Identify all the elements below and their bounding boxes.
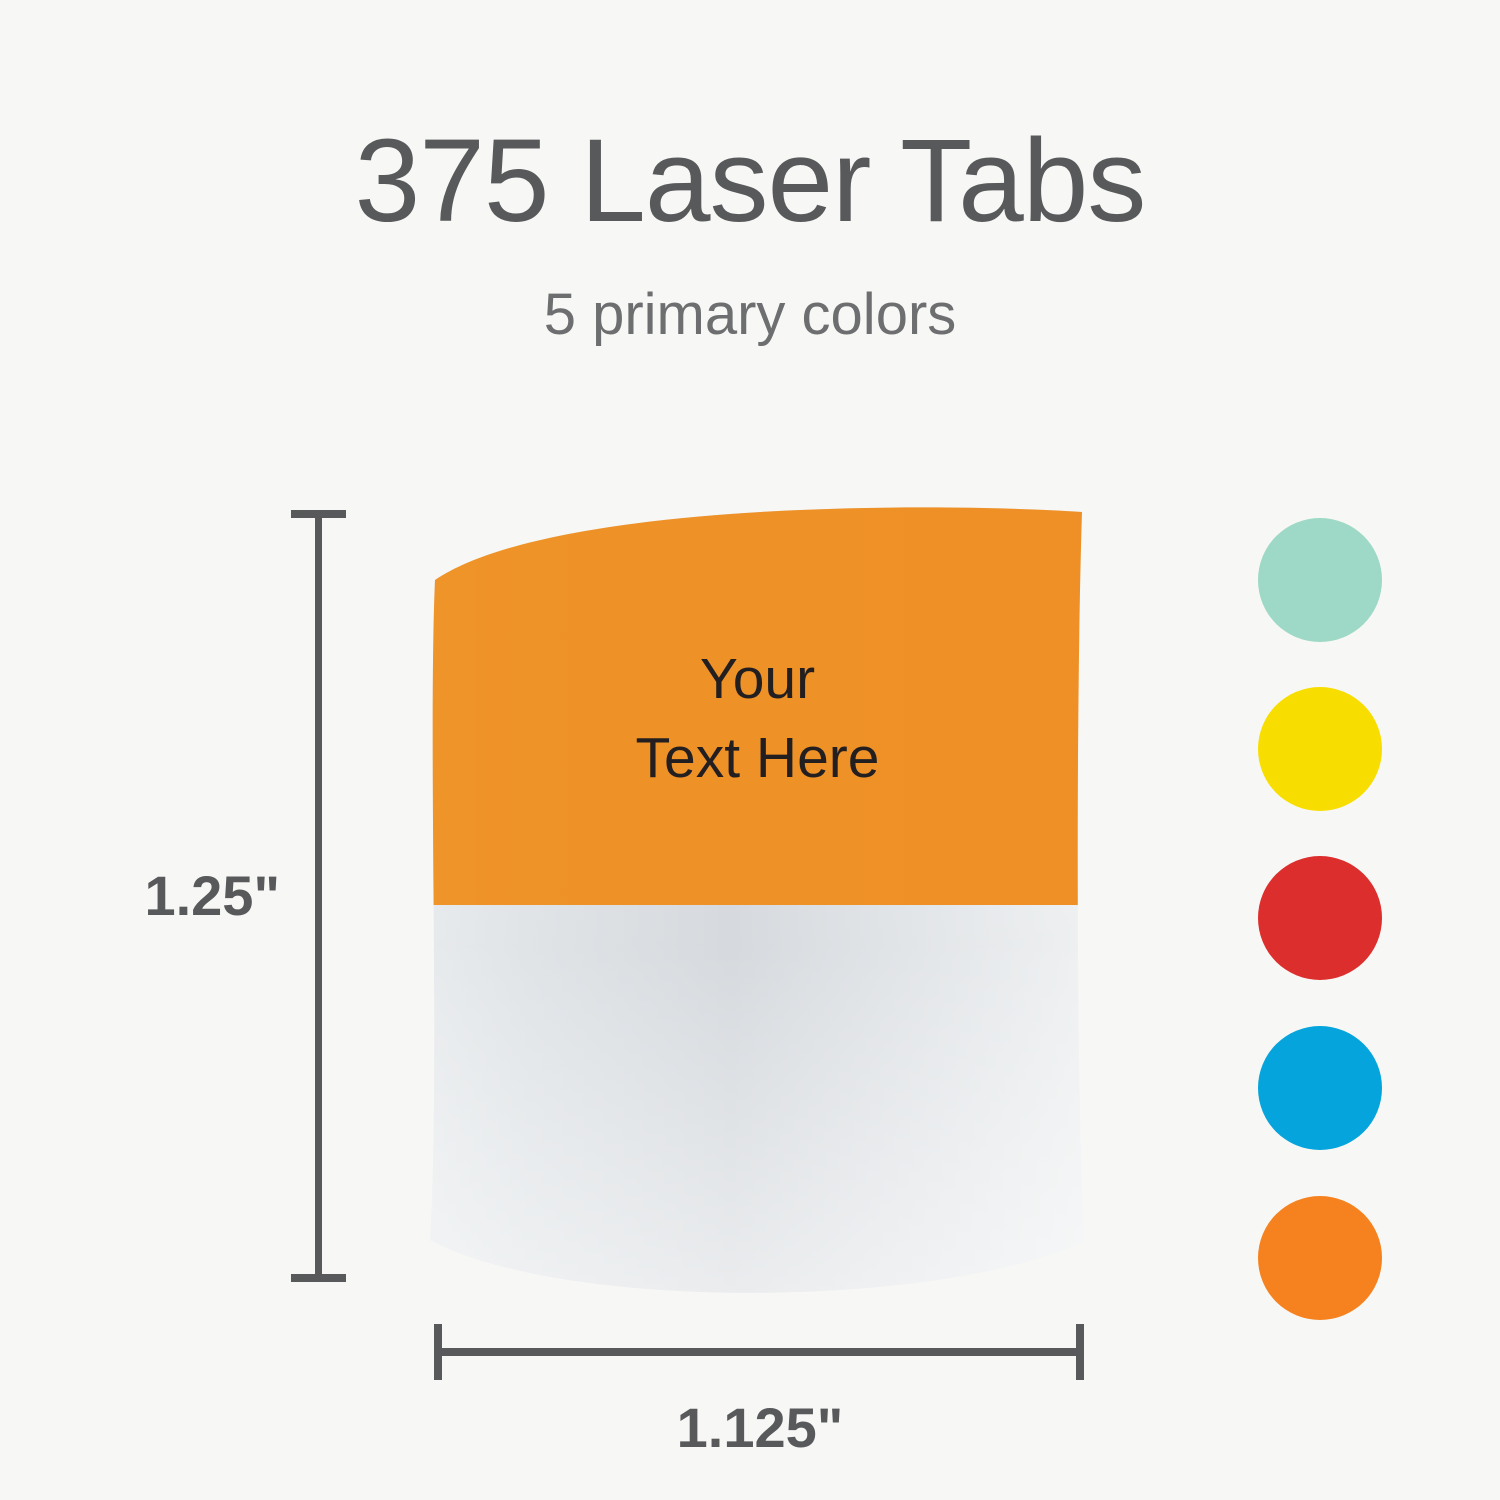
- product-image-canvas: 375 Laser Tabs 5 primary colors: [0, 0, 1500, 1500]
- width-dimension-label: 1.125": [440, 1400, 1080, 1456]
- height-guide-line: [315, 510, 322, 1282]
- color-swatch-yellow: [1258, 687, 1382, 811]
- tab-color-area: [400, 480, 1120, 905]
- color-swatch-red: [1258, 856, 1382, 980]
- page-subtitle: 5 primary colors: [0, 286, 1500, 344]
- page-title: 375 Laser Tabs: [0, 122, 1500, 240]
- width-guide-right-cap: [1076, 1324, 1084, 1380]
- height-guide-bottom-cap: [291, 1274, 346, 1282]
- height-dimension-label: 1.25": [0, 868, 280, 924]
- color-swatch-orange: [1258, 1196, 1382, 1320]
- width-guide-line: [437, 1348, 1082, 1356]
- laser-tab-illustration: [400, 480, 1120, 1330]
- color-swatch-blue: [1258, 1026, 1382, 1150]
- tab-body: [400, 480, 1120, 1330]
- color-swatch-list: [1258, 518, 1382, 1320]
- color-swatch-mint-green: [1258, 518, 1382, 642]
